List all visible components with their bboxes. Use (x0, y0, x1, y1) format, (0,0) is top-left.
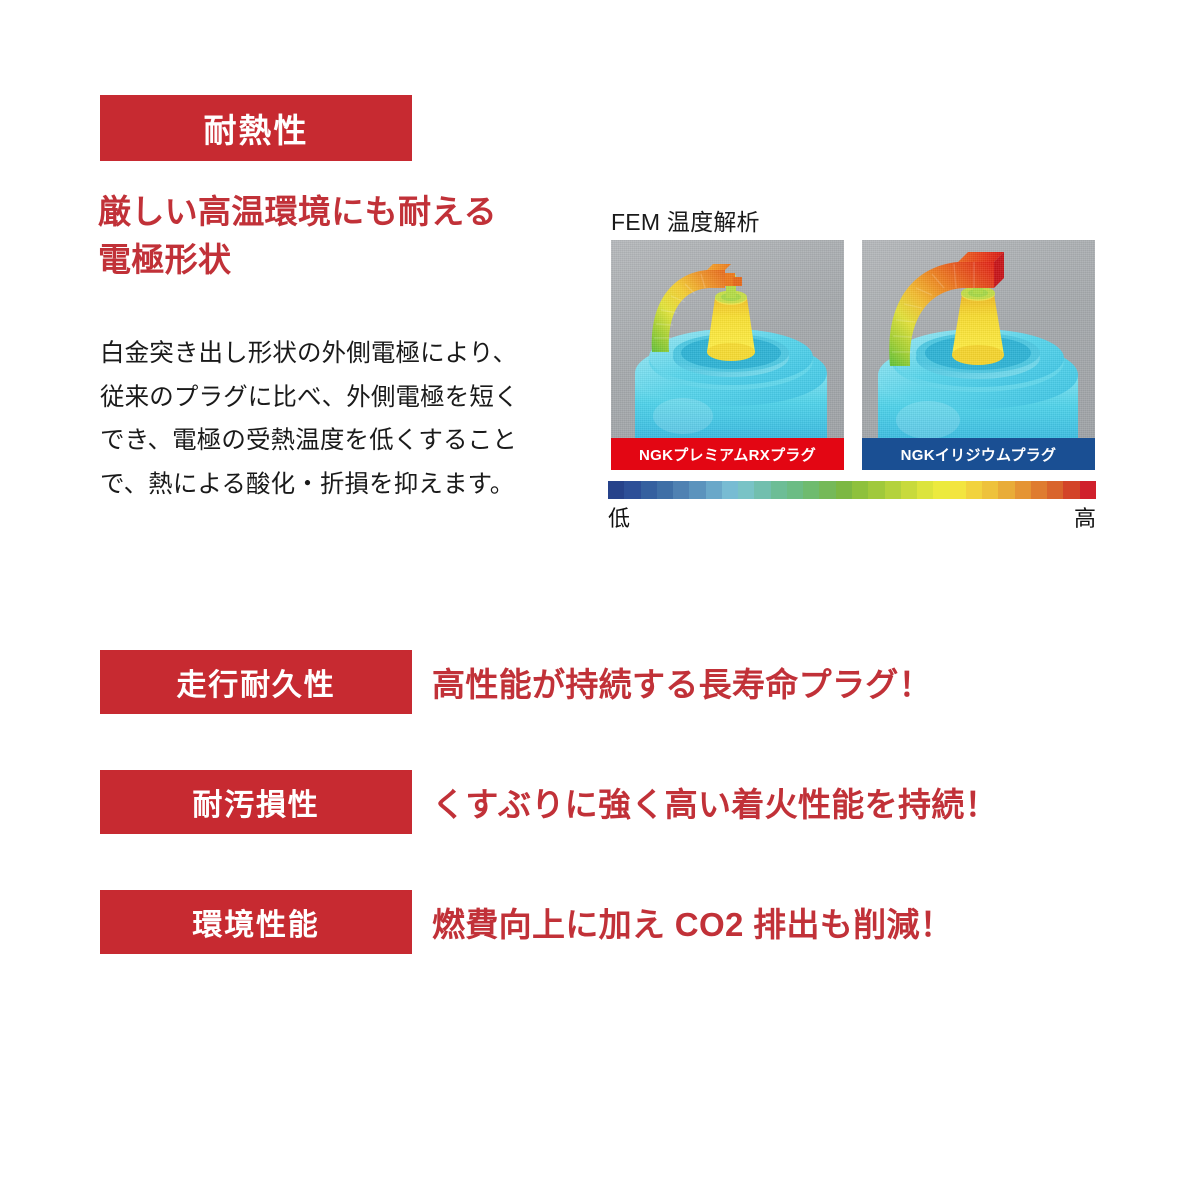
feature-row-durability: 走行耐久性 高性能が持続する長寿命プラグ！ (100, 650, 1080, 714)
colorbar-step-3 (657, 481, 673, 499)
colorbar-step-11 (787, 481, 803, 499)
colorbar-step-10 (771, 481, 787, 499)
colorbar-step-19 (917, 481, 933, 499)
colorbar-step-1 (624, 481, 640, 499)
feature-text-fouling-resistance: くすぶりに強く高い着火性能を持続！ (432, 770, 998, 834)
body-line-4: で、熱による酸化・折損を抑えます。 (100, 463, 578, 507)
thermal-colorbar (608, 481, 1096, 499)
colorbar-step-15 (852, 481, 868, 499)
fem-analysis-label: FEM 温度解析 (611, 203, 760, 237)
feature-text-durability: 高性能が持続する長寿命プラグ！ (432, 650, 932, 714)
colorbar-step-4 (673, 481, 689, 499)
colorbar-step-29 (1080, 481, 1096, 499)
feature-badge-fouling-resistance: 耐汚損性 (100, 770, 412, 834)
feature-text-environmental: 燃費向上に加え CO2 排出も削減！ (432, 890, 953, 954)
feature-row-fouling-resistance: 耐汚損性 くすぶりに強く高い着火性能を持続！ (100, 770, 1080, 834)
feature-badge-label: 環境性能 (192, 900, 319, 944)
body-line-2: 従来のプラグに比べ、外側電極を短く (100, 376, 578, 420)
colorbar-step-27 (1047, 481, 1063, 499)
colorbar-step-8 (738, 481, 754, 499)
colorbar-step-18 (901, 481, 917, 499)
colorbar-step-16 (868, 481, 884, 499)
feature-badge-label: 耐汚損性 (192, 780, 319, 824)
thermal-colorbar-labels: 低 高 (608, 501, 1096, 531)
body-line-1: 白金突き出し形状の外側電極により、 (100, 332, 578, 376)
body-line-3: でき、電極の受熱温度を低くすること (100, 419, 578, 463)
feature-badge-label: 走行耐久性 (177, 660, 336, 704)
fem-caption-text: NGKプレミアムRXプラグ (639, 444, 816, 465)
colorbar-low-label: 低 (608, 501, 630, 533)
colorbar-step-24 (998, 481, 1014, 499)
colorbar-step-20 (933, 481, 949, 499)
colorbar-step-12 (803, 481, 819, 499)
colorbar-step-9 (754, 481, 770, 499)
colorbar-step-25 (1015, 481, 1031, 499)
fem-panel-premium-rx: NGKプレミアムRXプラグ (611, 240, 844, 470)
section-badge-heat-resistance: 耐熱性 (100, 95, 412, 161)
section-body-text: 白金突き出し形状の外側電極により、 従来のプラグに比べ、外側電極を短く でき、電… (100, 332, 578, 506)
colorbar-high-label: 高 (1074, 501, 1096, 533)
colorbar-step-6 (706, 481, 722, 499)
feature-badge-environmental: 環境性能 (100, 890, 412, 954)
fem-panel-caption-premium-rx: NGKプレミアムRXプラグ (611, 438, 844, 470)
section-heading-line-1: 厳しい高温環境にも耐える (98, 188, 578, 236)
fem-caption-text: NGKイリジウムプラグ (901, 444, 1057, 465)
colorbar-step-26 (1031, 481, 1047, 499)
fem-panel-group: NGKプレミアムRXプラグ (611, 240, 1095, 470)
fem-thermal-render-premium-rx (611, 240, 844, 470)
fem-thermal-render-iridium (862, 240, 1095, 470)
colorbar-step-2 (641, 481, 657, 499)
colorbar-step-22 (966, 481, 982, 499)
colorbar-step-28 (1063, 481, 1079, 499)
section-heading: 厳しい高温環境にも耐える 電極形状 (98, 188, 578, 284)
colorbar-step-13 (819, 481, 835, 499)
section-heading-line-2: 電極形状 (98, 236, 578, 284)
colorbar-step-17 (885, 481, 901, 499)
thermal-colorbar-group: 低 高 (608, 481, 1096, 531)
colorbar-step-21 (950, 481, 966, 499)
feature-badge-durability: 走行耐久性 (100, 650, 412, 714)
colorbar-step-14 (836, 481, 852, 499)
colorbar-step-7 (722, 481, 738, 499)
feature-row-environmental: 環境性能 燃費向上に加え CO2 排出も削減！ (100, 890, 1080, 954)
section-badge-label: 耐熱性 (204, 104, 309, 152)
colorbar-step-5 (689, 481, 705, 499)
colorbar-step-23 (982, 481, 998, 499)
fem-panel-caption-iridium: NGKイリジウムプラグ (862, 438, 1095, 470)
colorbar-step-0 (608, 481, 624, 499)
fem-panel-iridium: NGKイリジウムプラグ (862, 240, 1095, 470)
